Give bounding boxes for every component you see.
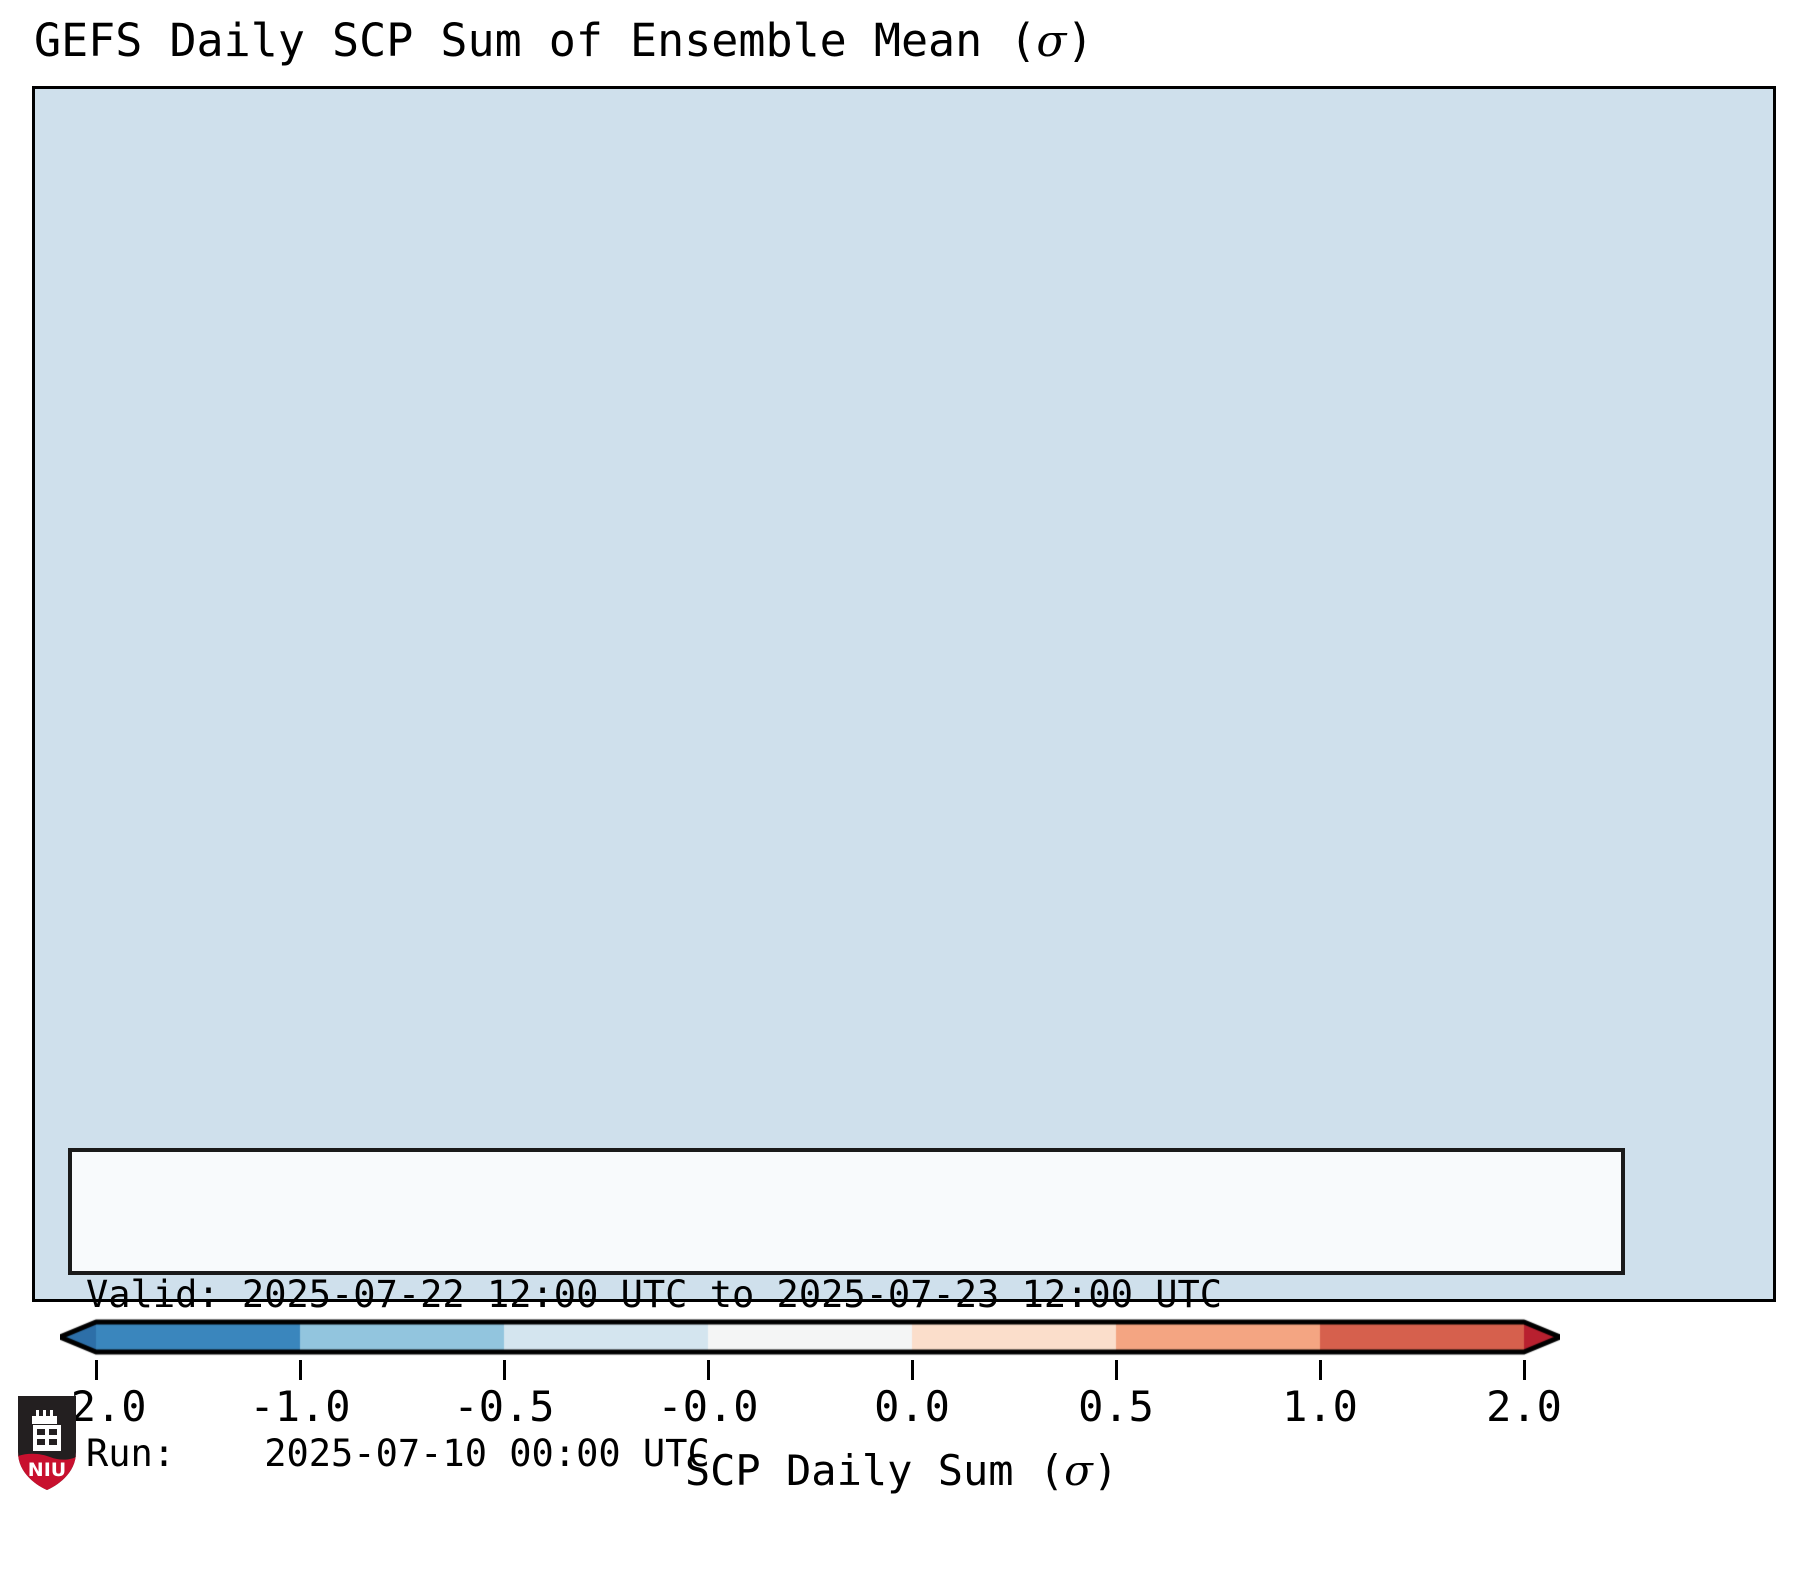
valid-run-info-box: Valid: 2025-07-22 12:00 UTC to 2025-07-2…: [68, 1148, 1625, 1275]
valid-time-line: Valid: 2025-07-22 12:00 UTC to 2025-07-2…: [86, 1268, 1607, 1321]
run-time-line: Run: 2025-07-10 00:00 UTC: [86, 1427, 1607, 1480]
map-panel[interactable]: [32, 86, 1776, 1302]
niu-logo: NIU: [16, 1394, 78, 1492]
niu-logo-text: NIU: [28, 1459, 66, 1481]
geography-overlay: [35, 89, 1773, 1299]
title-text-before: GEFS Daily SCP Sum of Ensemble Mean (: [34, 14, 1036, 67]
figure-root: GEFS Daily SCP Sum of Ensemble Mean (σ) …: [0, 0, 1803, 1506]
title-text-after: ): [1066, 14, 1093, 67]
title-sigma-symbol: σ: [1036, 16, 1066, 67]
figure-title: GEFS Daily SCP Sum of Ensemble Mean (σ): [34, 14, 1094, 67]
